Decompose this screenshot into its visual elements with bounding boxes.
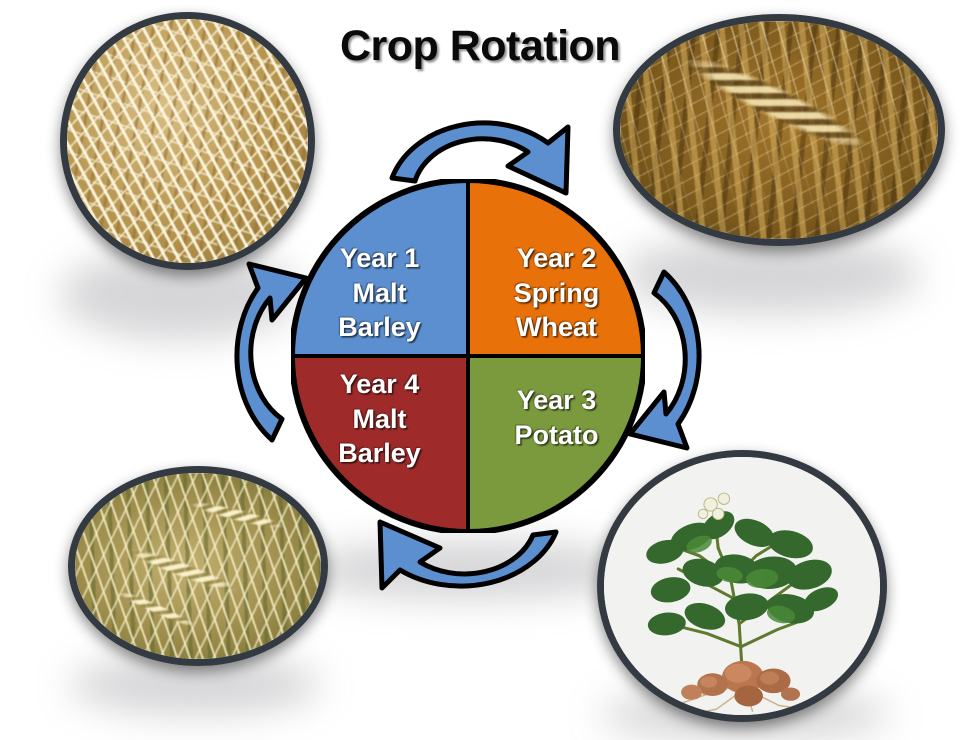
potato-plant-illustration [604, 457, 880, 715]
crop-rotation-diagram: Crop Rotation [0, 0, 960, 720]
crop-rotation-wheel: Year 1 Malt Barley Year 2 Spring Wheat Y… [291, 179, 645, 533]
barley-heads-photo [75, 473, 321, 659]
wheel-svg [291, 179, 645, 533]
barley-straw-photo [67, 19, 308, 263]
photo-barley-straw[interactable] [60, 12, 315, 270]
photo-barley-heads[interactable] [68, 466, 328, 666]
photo-wheat-head[interactable] [613, 14, 945, 246]
barley-ear-detail [172, 488, 302, 542]
wheat-head-photo [620, 21, 938, 239]
shadow-wheel [300, 540, 640, 600]
potato-plant-photo [604, 457, 880, 715]
